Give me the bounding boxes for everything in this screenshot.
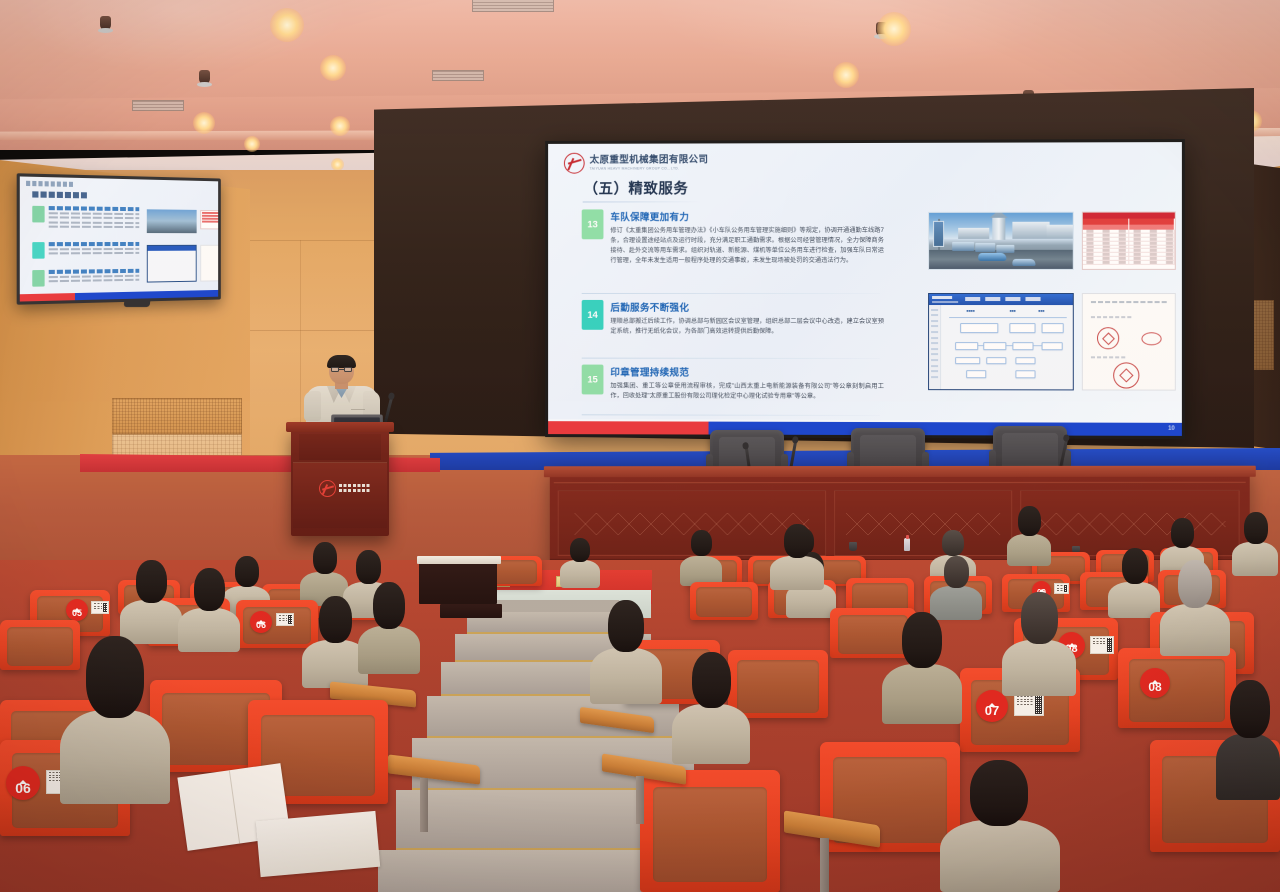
slide-company-logo: 太原重型机械集团有限公司 TAIYUAN HEAVY MACHINERY GRO… (564, 152, 709, 173)
seat-desk-unit (419, 560, 497, 604)
ceiling-downlight (193, 112, 215, 134)
slide-title: （五）精致服务 (584, 177, 689, 198)
ceiling-downlight (320, 55, 346, 81)
mini-logo-placeholder (26, 181, 73, 187)
armrest-support-leg (420, 778, 428, 832)
audience-person (560, 536, 600, 586)
acoustic-perforated-panel (112, 398, 242, 434)
block-separator (582, 358, 880, 359)
footer-red-accent (548, 421, 708, 434)
audience-person (1002, 592, 1076, 696)
seat-number-badge: 08 (1140, 668, 1170, 698)
block-heading: 印章管理持续规范 (610, 365, 884, 379)
mini-schedule-table (200, 210, 218, 229)
seat-qr-label (1090, 636, 1114, 654)
speaker-podium (291, 428, 389, 536)
table-front-panel (1020, 490, 1239, 556)
round-red-seal-icon (1113, 362, 1139, 388)
official-seal-document (1082, 293, 1176, 391)
ceiling-downlight (270, 8, 304, 42)
mini-title-placeholder (32, 191, 87, 198)
ceiling-spotlight-fixture (100, 16, 111, 30)
handout-paper[interactable] (256, 811, 380, 877)
hvac-vent (132, 100, 184, 111)
mini-footer-bar (20, 290, 218, 302)
seat-qr-label (91, 601, 109, 614)
audience-person (1232, 512, 1278, 576)
mini-bus-photo (147, 209, 197, 233)
mini-block-badge (32, 270, 44, 287)
audience-person (680, 530, 722, 586)
water-bottle[interactable] (904, 538, 910, 551)
audience-person (1160, 560, 1230, 656)
hvac-vent (472, 0, 554, 12)
seat-number-badge: 06 (6, 766, 40, 800)
block-heading: 后勤服务不断强化 (610, 300, 884, 314)
audience-person (1007, 506, 1051, 566)
company-name-cn: 太原重型机械集团有限公司 (590, 155, 709, 165)
slide-block-15: 15 印章管理持续规范 加强集团、重工等公章使用流程审核，完成"山西太重上电新能… (582, 365, 884, 402)
ceiling-spotlight-fixture (199, 70, 210, 84)
block-heading: 车队保障更加有力 (610, 209, 884, 223)
audience-person (178, 568, 240, 652)
audience-person (882, 612, 962, 724)
block-body: 理顺总部搬迁后续工作，协调总部与新园区会议室管理，组织总部二层会议中心改造，建立… (610, 316, 884, 336)
seat[interactable] (640, 770, 780, 892)
block-separator (582, 414, 880, 416)
table-front-panel (834, 490, 1012, 556)
mini-block-badge (32, 206, 44, 223)
wall-mounted-confidence-monitor[interactable] (17, 173, 221, 304)
audience-person (672, 652, 750, 764)
monitor-stand (124, 300, 151, 307)
oval-red-seal-icon (1141, 332, 1161, 345)
commuter-bus-photo (928, 212, 1074, 270)
tz-monogram-logo-icon (319, 480, 336, 497)
title-underline (583, 201, 702, 202)
audience-person (770, 524, 824, 590)
armrest-support-leg (820, 838, 829, 892)
seat-desk-top (417, 556, 501, 564)
conference-hall-scene: 太原重型机械集团有限公司 TAIYUAN HEAVY MACHINERY GRO… (0, 0, 1280, 892)
audience-person (1216, 680, 1280, 800)
main-projection-screen[interactable]: 太原重型机械集团有限公司 TAIYUAN HEAVY MACHINERY GRO… (545, 139, 1185, 439)
audience-person (930, 556, 982, 620)
block-number-badge: 13 (582, 209, 604, 239)
block-body: 加强集团、重工等公章使用流程审核，完成"山西太重上电新能源装备有限公司"等公章刻… (610, 381, 884, 402)
slide-block-14: 14 后勤服务不断强化 理顺总部搬迁后续工作，协调总部与新园区会议室管理，组织总… (582, 300, 884, 337)
seat-number-badge: 06 (250, 611, 272, 633)
seat-number-badge: 05 (66, 599, 88, 621)
company-name-en: TAIYUAN HEAVY MACHINERY GROUP CO., LTD. (590, 167, 709, 171)
presentation-slide: 太原重型机械集团有限公司 TAIYUAN HEAVY MACHINERY GRO… (548, 142, 1182, 436)
audience-person-reading (60, 636, 170, 804)
podium-company-logo (319, 480, 371, 497)
slide-block-13: 13 车队保障更加有力 修订《太重集团公务用车管理办法》《小车队公务用车管理实施… (582, 209, 884, 266)
tz-monogram-logo-icon (564, 153, 585, 174)
zigzag-inlay-decoration (846, 513, 1001, 535)
seat-qr-label (276, 613, 294, 626)
audience-person (940, 760, 1060, 892)
ceiling-downlight (833, 62, 859, 88)
audience-person (358, 582, 420, 674)
mini-block-heading (49, 269, 140, 274)
seat-qr-label (1014, 694, 1044, 716)
mini-block-heading (49, 206, 140, 211)
bus-schedule-table (1082, 212, 1176, 270)
mini-system-screenshot (147, 245, 197, 283)
block-separator (582, 293, 880, 294)
table-cup[interactable] (849, 542, 857, 551)
armrest-support-leg (636, 776, 644, 824)
seat-desk-unit (440, 604, 502, 618)
audience-person (120, 560, 182, 644)
seat[interactable] (690, 582, 758, 620)
meeting-room-booking-system-screenshot: ■■■■ ■■■ ■■■ (928, 293, 1074, 390)
hvac-vent (432, 70, 484, 81)
mini-block-heading (49, 242, 140, 246)
ceiling-downlight (244, 136, 260, 152)
block-number-badge: 14 (582, 300, 604, 330)
round-red-seal-icon (1097, 327, 1119, 349)
monitor-screen-content (20, 176, 218, 301)
block-body: 修订《太重集团公务用车管理办法》《小车队公务用车管理实施细则》等规定，协调开通通… (610, 225, 884, 265)
ceiling-downlight (330, 116, 350, 136)
slide-page-number: 10 (1168, 425, 1175, 431)
audience-person (1108, 548, 1160, 618)
ceiling-downlight (877, 12, 911, 46)
audience-person (590, 600, 662, 704)
mini-block-badge (32, 242, 44, 259)
eyeglasses-icon (331, 367, 352, 372)
mini-seal-document (200, 245, 218, 282)
block-number-badge: 15 (582, 365, 604, 395)
